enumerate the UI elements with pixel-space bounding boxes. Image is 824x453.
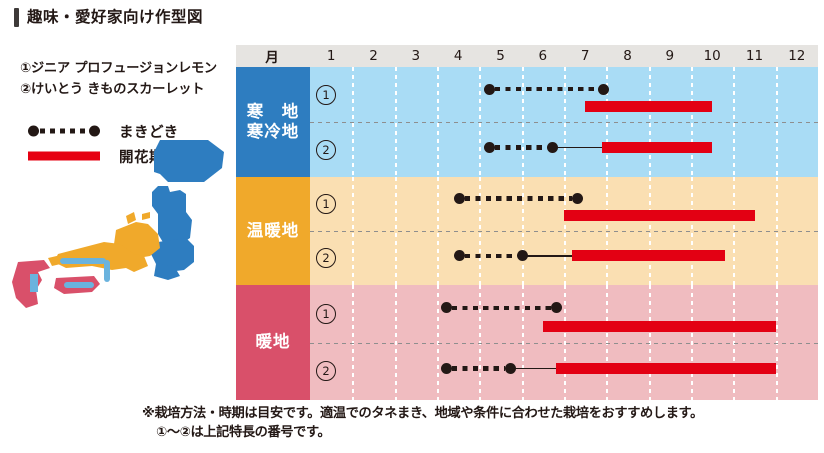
title-accent-bar xyxy=(14,8,19,27)
month-tick-6: 6 xyxy=(522,45,564,67)
chart-row: 1 xyxy=(310,67,818,122)
month-header-label: 月 xyxy=(236,45,310,67)
region-band-2: 温暖地12 xyxy=(236,177,818,285)
region-plot-2: 12 xyxy=(310,177,818,285)
footnote-line-1: ※栽培方法・時期は目安です。適温でのタネまき、地域や条件に合わせた栽培をおすすめ… xyxy=(142,404,824,423)
map-shikoku-accent xyxy=(64,282,94,288)
month-tick-12: 12 xyxy=(776,45,818,67)
row-number-badge: 2 xyxy=(316,140,336,160)
flowering-period-bar xyxy=(564,210,755,221)
title-text: 趣味・愛好家向け作型図 xyxy=(27,10,203,26)
sowing-period-bar xyxy=(484,142,559,153)
region-band-3: 暖地12 xyxy=(236,285,818,400)
sowing-period-bar xyxy=(454,250,529,261)
map-hokkaido xyxy=(154,140,224,182)
month-tick-11: 11 xyxy=(733,45,775,67)
sowing-period-bar xyxy=(441,363,516,374)
region-band-1: 寒 地寒冷地12 xyxy=(236,67,818,177)
month-tick-8: 8 xyxy=(606,45,648,67)
variety-item-1: ①ジニア プロフュージョンレモン xyxy=(20,58,245,79)
flowering-period-bar xyxy=(585,101,712,112)
map-noto xyxy=(126,212,136,224)
region-plot-1: 12 xyxy=(310,67,818,177)
sowing-period-bar xyxy=(454,193,584,204)
month-tick-4: 4 xyxy=(437,45,479,67)
map-strait xyxy=(104,260,110,282)
chart-row: 1 xyxy=(310,177,818,231)
chart-row: 1 xyxy=(310,285,818,343)
flowering-period-bar xyxy=(602,142,712,153)
row-number-badge: 2 xyxy=(316,361,336,381)
month-tick-2: 2 xyxy=(352,45,394,67)
cultivation-chart: 月 123456789101112 寒 地寒冷地12温暖地12暖地12 xyxy=(236,45,818,400)
japan-map xyxy=(8,138,240,314)
map-inland-sea xyxy=(60,258,106,264)
chart-grid-body: 寒 地寒冷地12温暖地12暖地12 xyxy=(236,67,818,400)
row-number-badge: 1 xyxy=(316,85,336,105)
row-number-badge: 1 xyxy=(316,304,336,324)
flowering-period-bar xyxy=(556,363,776,374)
sowing-period-bar xyxy=(484,84,609,95)
chart-row: 2 xyxy=(310,343,818,401)
page-title: 趣味・愛好家向け作型図 xyxy=(14,8,203,27)
month-tick-9: 9 xyxy=(649,45,691,67)
variety-item-2: ②けいとう きものスカーレット xyxy=(20,79,245,100)
month-tick-7: 7 xyxy=(564,45,606,67)
flowering-period-bar xyxy=(572,250,724,261)
month-tick-10: 10 xyxy=(691,45,733,67)
footnote-line-2: ①〜②は上記特長の番号です。 xyxy=(156,423,824,442)
page-root: 趣味・愛好家向け作型図 ①ジニア プロフュージョンレモン ②けいとう きものスカ… xyxy=(0,0,824,453)
chart-row: 2 xyxy=(310,122,818,177)
footnote: ※栽培方法・時期は目安です。適温でのタネまき、地域や条件に合わせた栽培をおすすめ… xyxy=(142,404,824,442)
month-tick-1: 1 xyxy=(310,45,352,67)
region-label-2: 温暖地 xyxy=(236,177,310,285)
japan-map-svg xyxy=(8,138,240,314)
chart-header-row: 月 123456789101112 xyxy=(236,45,818,67)
region-label-3: 暖地 xyxy=(236,285,310,400)
month-tick-5: 5 xyxy=(479,45,521,67)
region-plot-3: 12 xyxy=(310,285,818,400)
map-sado xyxy=(142,212,150,220)
month-tick-3: 3 xyxy=(395,45,437,67)
row-number-badge: 1 xyxy=(316,194,336,214)
flowering-period-bar xyxy=(543,321,776,332)
map-kyushu-accent xyxy=(30,274,38,292)
region-label-1: 寒 地寒冷地 xyxy=(236,67,310,177)
month-tick-labels: 123456789101112 xyxy=(310,45,818,67)
sowing-period-bar xyxy=(441,302,562,313)
row-number-badge: 2 xyxy=(316,248,336,268)
chart-row: 2 xyxy=(310,231,818,285)
